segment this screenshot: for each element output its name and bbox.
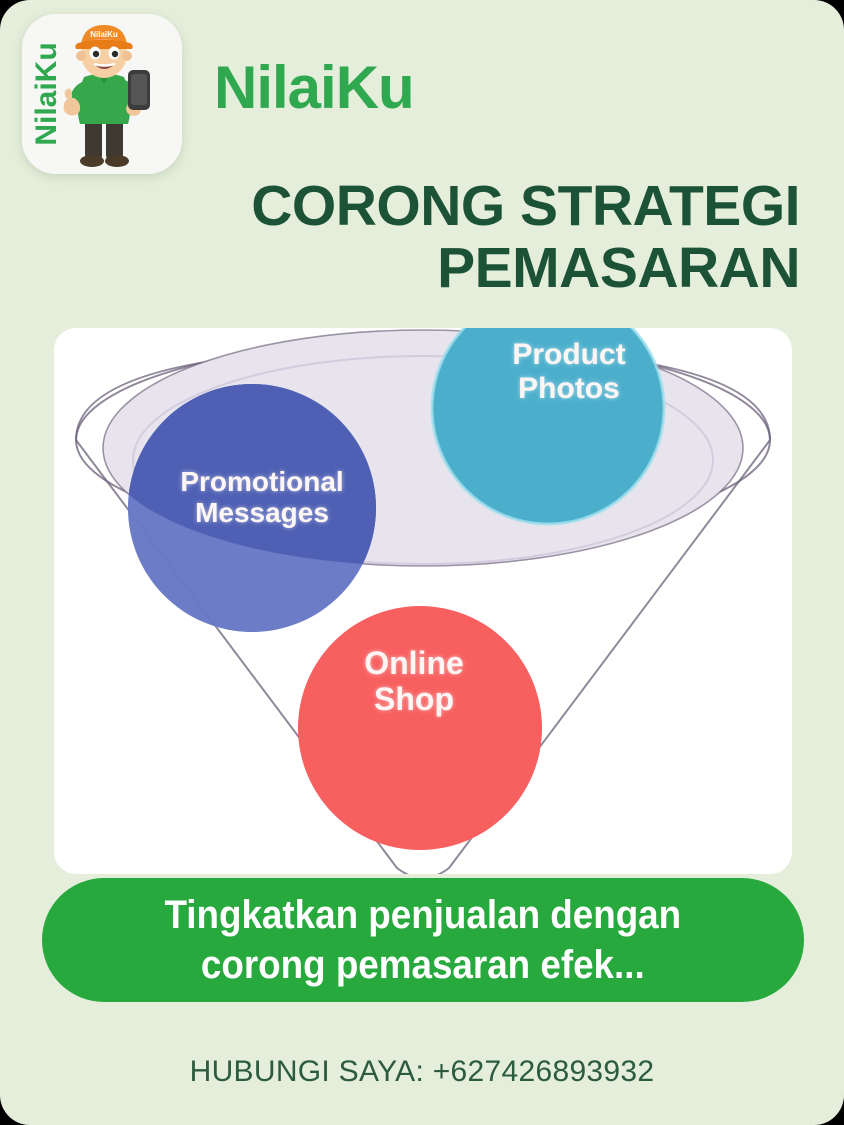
page-title-line-2: PEMASARAN xyxy=(120,238,800,300)
poster-canvas: NilaiKu xyxy=(0,0,844,1125)
cta-text-line-2: corong pemasaran efek... xyxy=(165,940,682,990)
cta-text: Tingkatkan penjualan dengan corong pemas… xyxy=(133,890,712,990)
funnel-diagram-icon xyxy=(54,328,792,874)
funnel-illustration-card: Promotional Messages Product Photos Onli… xyxy=(54,328,792,874)
cta-banner[interactable]: Tingkatkan penjualan dengan corong pemas… xyxy=(42,878,804,1002)
nilaiku-mascot-logo-icon: NilaiKu xyxy=(22,14,182,174)
page-title: CORONG STRATEGI PEMASARAN xyxy=(120,176,800,299)
page-title-line-1: CORONG STRATEGI xyxy=(120,176,800,238)
cta-text-line-1: Tingkatkan penjualan dengan xyxy=(165,890,682,940)
nilaiku-logo-tile[interactable]: NilaiKu xyxy=(22,14,182,174)
contact-line[interactable]: HUBUNGI SAYA: +627426893932 xyxy=(0,1055,844,1089)
svg-text:NilaiKu: NilaiKu xyxy=(90,30,118,39)
brand-name: NilaiKu xyxy=(214,58,414,118)
brand-header: NilaiKu xyxy=(0,0,844,180)
svg-text:NilaiKu: NilaiKu xyxy=(30,42,63,145)
